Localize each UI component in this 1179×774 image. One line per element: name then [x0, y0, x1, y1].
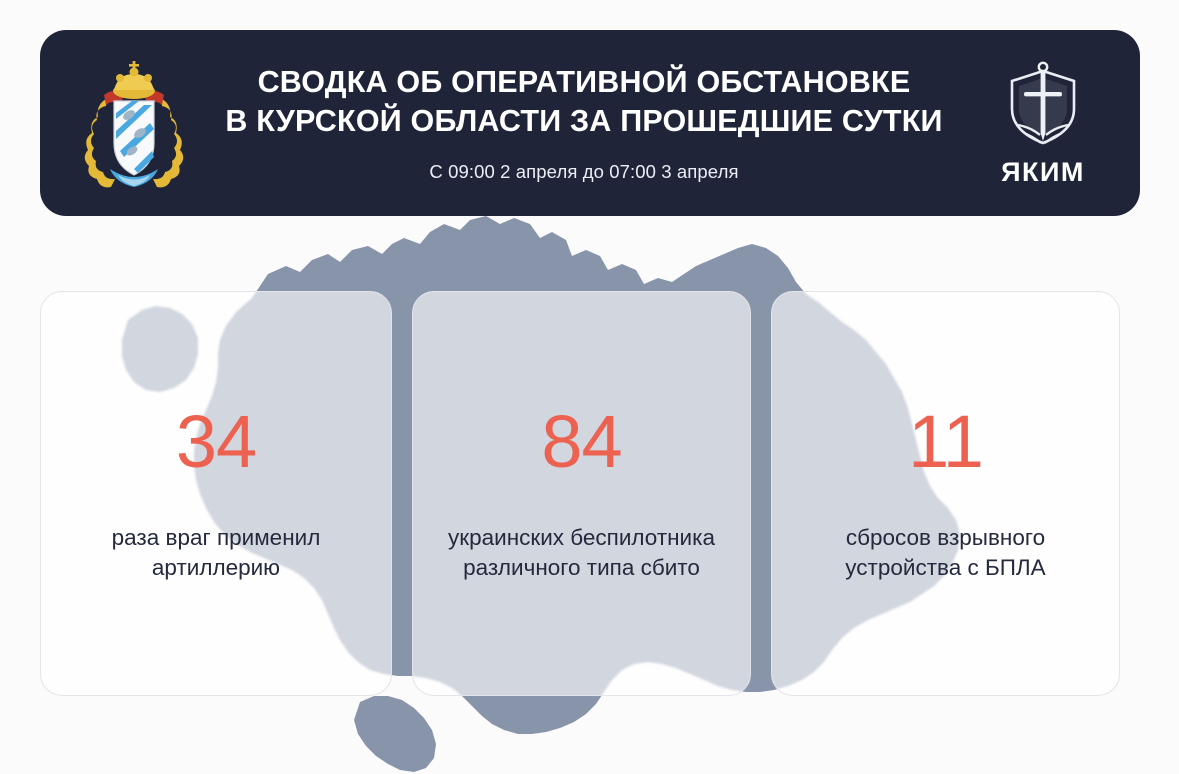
header-text-block: СВОДКА ОБ ОПЕРАТИВНОЙ ОБСТАНОВКЕ В КУРСК…	[188, 63, 980, 183]
shield-sword-icon	[1000, 59, 1086, 151]
stat-card-explosive-drops: 11 сбросов взрывного устройства с БПЛА	[771, 291, 1120, 696]
header-banner: СВОДКА ОБ ОПЕРАТИВНОЙ ОБСТАНОВКЕ В КУРСК…	[40, 30, 1140, 216]
brand-name: ЯКИМ	[1001, 157, 1085, 188]
stat-value: 34	[176, 405, 256, 479]
stats-row: 34 раза враг применил артиллерию 84 укра…	[40, 291, 1140, 696]
stat-value: 11	[908, 405, 983, 479]
stat-card-artillery: 34 раза враг применил артиллерию	[40, 291, 392, 696]
stat-label: сбросов взрывного устройства с БПЛА	[845, 523, 1045, 582]
kursk-oblast-coat-of-arms-icon	[80, 57, 188, 189]
brand-block: ЯКИМ	[980, 59, 1106, 188]
stat-value: 84	[541, 405, 621, 479]
report-period: С 09:00 2 апреля до 07:00 3 апреля	[198, 161, 970, 183]
stat-card-drones-downed: 84 украинских беспилотника различного ти…	[412, 291, 751, 696]
infographic-root: СВОДКА ОБ ОПЕРАТИВНОЙ ОБСТАНОВКЕ В КУРСК…	[0, 0, 1179, 774]
stat-label: раза враг применил артиллерию	[112, 523, 321, 582]
page-title: СВОДКА ОБ ОПЕРАТИВНОЙ ОБСТАНОВКЕ В КУРСК…	[198, 63, 970, 141]
stat-label: украинских беспилотника различного типа …	[448, 523, 715, 582]
